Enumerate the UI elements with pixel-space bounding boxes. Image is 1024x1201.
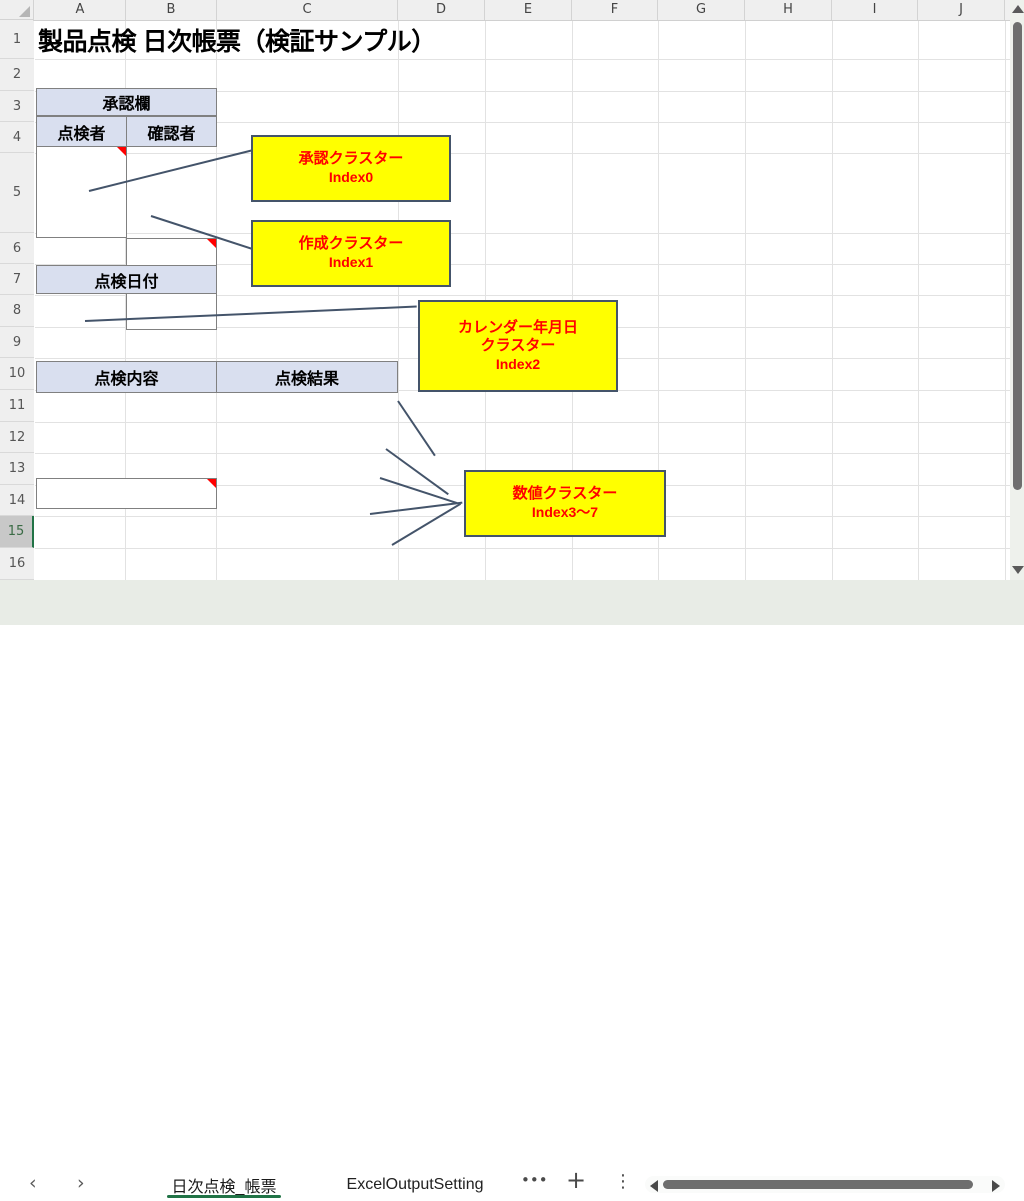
- comment-marker-icon[interactable]: [207, 239, 216, 248]
- callout-line1: 数値クラスター: [513, 485, 618, 504]
- comment-marker-icon[interactable]: [207, 479, 216, 488]
- row-header-15[interactable]: 15: [0, 516, 34, 548]
- row-header-3[interactable]: 3: [0, 91, 34, 122]
- approval-inspector-cell[interactable]: [36, 146, 127, 238]
- triangle-icon: [19, 6, 30, 17]
- sheet-tab-excel-output-setting[interactable]: ExcelOutputSetting: [318, 1168, 512, 1201]
- sheet-tab-daily-report[interactable]: 日次点検_帳票: [159, 1168, 289, 1201]
- add-sheet-icon[interactable]: +: [566, 1166, 586, 1194]
- callout-line2: Index1: [329, 254, 373, 272]
- approval-col-inspector: 点検者: [36, 116, 127, 147]
- column-header-c[interactable]: C: [217, 0, 398, 20]
- row-header-16[interactable]: 16: [0, 548, 34, 580]
- approval-title: 承認欄: [36, 88, 217, 116]
- page-title: 製品点検 日次帳票（検証サンプル）: [38, 22, 436, 58]
- vertical-scroll-thumb[interactable]: [1013, 22, 1022, 490]
- sheet-tab-label: ExcelOutputSetting: [347, 1176, 484, 1194]
- horizontal-scroll-thumb[interactable]: [663, 1180, 973, 1189]
- scroll-right-icon[interactable]: [992, 1180, 1000, 1192]
- row-header-10[interactable]: 10: [0, 358, 34, 390]
- sheet-more-icon[interactable]: •••: [521, 1171, 548, 1189]
- callout-line2: Index3〜7: [532, 504, 598, 522]
- callout-approval-cluster[interactable]: 承認クラスター Index0: [251, 135, 451, 202]
- scroll-down-icon[interactable]: [1012, 566, 1024, 574]
- vertical-scrollbar[interactable]: [1010, 0, 1024, 600]
- callout-creation-cluster[interactable]: 作成クラスター Index1: [251, 220, 451, 287]
- callout-line2: Index2: [496, 356, 540, 374]
- column-header-d[interactable]: D: [398, 0, 485, 20]
- row-header-6[interactable]: 6: [0, 233, 34, 264]
- sheet-menu-icon[interactable]: ⋮: [614, 1171, 632, 1192]
- column-header-row[interactable]: ABCDEFGHIJ: [0, 0, 1010, 21]
- column-header-a[interactable]: A: [35, 0, 126, 20]
- row-header-4[interactable]: 4: [0, 122, 34, 153]
- row-header-9[interactable]: 9: [0, 327, 34, 358]
- callout-line1: 作成クラスター: [299, 235, 404, 254]
- column-header-j[interactable]: J: [918, 0, 1005, 20]
- horizontal-scrollbar[interactable]: [645, 1176, 1005, 1193]
- table-header-result: 点検結果: [216, 361, 398, 393]
- excel-window: 製品点検 日次帳票（検証サンプル） 承認欄 点検者 確認者 点検日付 点検内容 …: [0, 0, 1024, 625]
- column-header-e[interactable]: E: [485, 0, 572, 20]
- column-header-i[interactable]: I: [832, 0, 918, 20]
- table-header-item: 点検内容: [36, 361, 217, 393]
- callout-calendar-cluster[interactable]: カレンダー年月日 クラスター Index2: [418, 300, 618, 392]
- row-header-column[interactable]: 12345678910111213141516: [0, 20, 34, 580]
- callout-line1: 承認クラスター: [299, 150, 404, 169]
- row-header-13[interactable]: 13: [0, 453, 34, 485]
- spreadsheet-grid[interactable]: 製品点検 日次帳票（検証サンプル） 承認欄 点検者 確認者 点検日付 点検内容 …: [0, 0, 1010, 580]
- callout-line1: カレンダー年月日: [458, 319, 578, 338]
- row-header-7[interactable]: 7: [0, 264, 34, 295]
- approval-col-confirmer: 確認者: [126, 116, 217, 147]
- row-header-2[interactable]: 2: [0, 59, 34, 91]
- column-header-f[interactable]: F: [572, 0, 658, 20]
- callout-numeric-cluster[interactable]: 数値クラスター Index3〜7: [464, 470, 666, 537]
- row-header-8[interactable]: 8: [0, 295, 34, 327]
- comment-marker-icon[interactable]: [117, 147, 126, 156]
- sheet-prev-button[interactable]: ‹: [29, 1172, 37, 1194]
- date-block-value-cell[interactable]: [36, 478, 217, 509]
- active-tab-underline: [167, 1195, 281, 1198]
- scroll-up-icon[interactable]: [1012, 5, 1024, 13]
- scroll-left-icon[interactable]: [650, 1180, 658, 1192]
- select-all-corner[interactable]: [0, 0, 34, 20]
- date-block-title: 点検日付: [36, 265, 217, 294]
- row-header-1[interactable]: 1: [0, 21, 34, 59]
- callout-line2: Index0: [329, 169, 373, 187]
- row-header-11[interactable]: 11: [0, 390, 34, 422]
- column-header-g[interactable]: G: [658, 0, 745, 20]
- sheet-tab-bar: ‹ › 日次点検_帳票 ExcelOutputSetting ••• + ⋮: [0, 580, 1024, 625]
- sheet-next-button[interactable]: ›: [77, 1172, 85, 1194]
- row-header-14[interactable]: 14: [0, 485, 34, 516]
- column-header-b[interactable]: B: [126, 0, 217, 20]
- sheet-tab-label: 日次点検_帳票: [172, 1173, 277, 1197]
- column-header-h[interactable]: H: [745, 0, 832, 20]
- callout-line1b: クラスター: [481, 337, 556, 356]
- row-header-12[interactable]: 12: [0, 422, 34, 453]
- row-header-5[interactable]: 5: [0, 153, 34, 233]
